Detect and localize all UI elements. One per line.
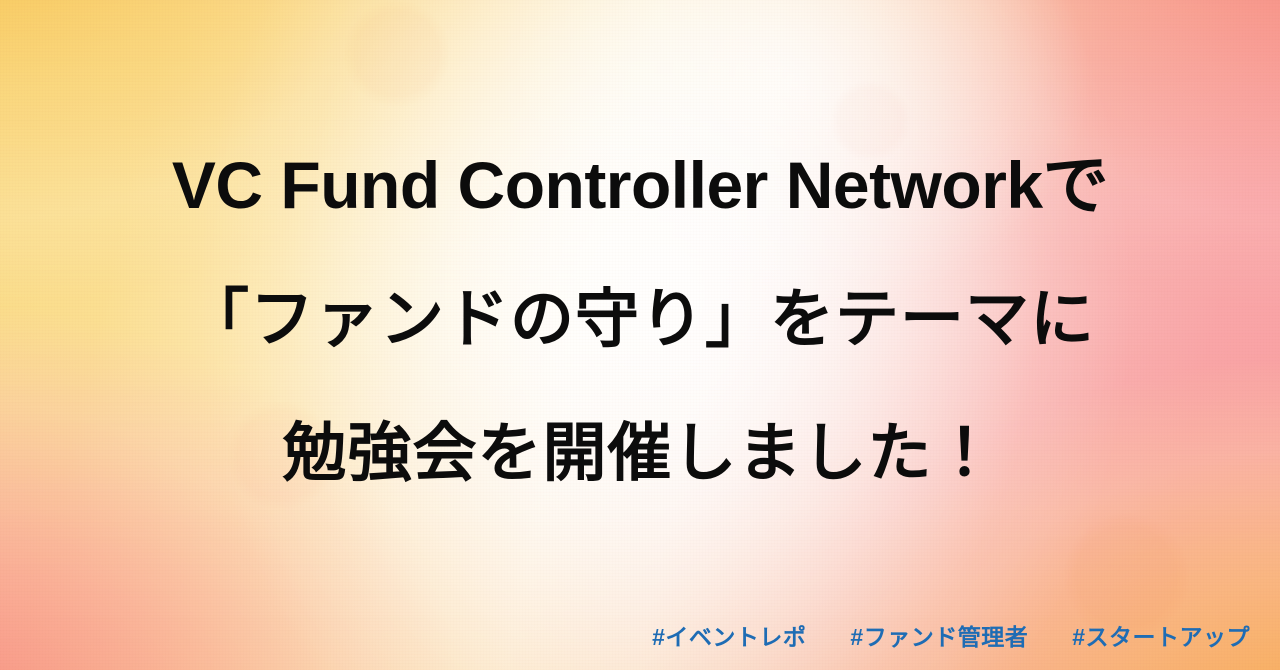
title-line-1: VC Fund Controller Networkで [172, 118, 1108, 252]
title-card: VC Fund Controller Networkで 「ファンドの守り」をテー… [0, 0, 1280, 670]
page-title: VC Fund Controller Networkで 「ファンドの守り」をテー… [0, 118, 1280, 520]
hashtag-list: #イベントレポ #ファンド管理者 #スタートアップ [652, 618, 1250, 652]
title-line-2: 「ファンドの守り」をテーマに [185, 252, 1095, 386]
hashtag-startup[interactable]: #スタートアップ [1072, 618, 1250, 652]
card-content: VC Fund Controller Networkで 「ファンドの守り」をテー… [0, 0, 1280, 670]
title-line-3: 勉強会を開催しました！ [283, 386, 998, 520]
hashtag-event-repo[interactable]: #イベントレポ [652, 618, 806, 652]
hashtag-fund-manager[interactable]: #ファンド管理者 [850, 618, 1028, 652]
